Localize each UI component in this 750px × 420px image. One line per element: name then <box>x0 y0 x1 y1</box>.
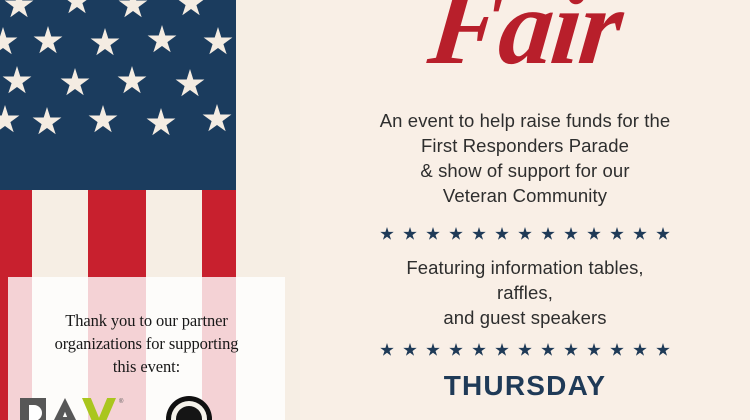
flag-canton-edge-3 <box>227 82 234 126</box>
flag-canton-edge-4 <box>229 126 234 172</box>
divider-star <box>633 343 647 357</box>
features-line-2: raffles, <box>300 280 750 305</box>
flyer-text-content: Fair An event to help raise funds for th… <box>300 0 750 420</box>
dav-letter-v <box>82 398 116 420</box>
divider-star <box>564 343 578 357</box>
divider-star <box>403 227 417 241</box>
divider-star <box>518 343 532 357</box>
divider-star <box>610 227 624 241</box>
divider-star <box>403 343 417 357</box>
flag-canton-torn-edge <box>0 150 236 210</box>
swampscott-seal-logo: SWAMPSCOTT <box>166 396 212 420</box>
divider-star <box>472 227 486 241</box>
divider-star <box>564 227 578 241</box>
divider-star <box>472 343 486 357</box>
star-divider-top <box>300 225 750 243</box>
intro-line-3: & show of support for our <box>300 158 750 183</box>
divider-star <box>633 227 647 241</box>
divider-star <box>610 343 624 357</box>
features-line-1: Featuring information tables, <box>300 255 750 280</box>
seal-ring-label: SWAMPSCOTT <box>166 396 212 420</box>
page-title: Fair <box>294 0 750 82</box>
partner-line-3: this event: <box>8 355 285 378</box>
divider-star <box>656 227 670 241</box>
divider-star <box>449 343 463 357</box>
partner-logos: ® SWAMPSCOTT <box>8 390 285 420</box>
divider-star <box>656 343 670 357</box>
partner-line-2: organizations for supporting <box>8 332 285 355</box>
divider-star <box>380 227 394 241</box>
partner-line-1: Thank you to our partner <box>8 309 285 332</box>
features-line-3: and guest speakers <box>300 305 750 330</box>
event-flyer: Thank you to our partner organizations f… <box>0 0 750 420</box>
partner-organizations-panel: Thank you to our partner organizations f… <box>8 277 285 420</box>
intro-line-1: An event to help raise funds for the <box>300 108 750 133</box>
divider-star <box>495 227 509 241</box>
divider-star <box>541 343 555 357</box>
divider-star <box>426 343 440 357</box>
flag-canton-edge-2 <box>230 34 235 82</box>
star-divider-bottom <box>300 341 750 359</box>
divider-star <box>518 227 532 241</box>
intro-paragraph: An event to help raise funds for the Fir… <box>300 108 750 208</box>
divider-star <box>380 343 394 357</box>
flag-canton-edge-1 <box>228 0 236 34</box>
divider-star <box>449 227 463 241</box>
divider-star <box>587 343 601 357</box>
divider-star <box>587 227 601 241</box>
intro-line-4: Veteran Community <box>300 183 750 208</box>
dav-letter-d <box>20 398 46 420</box>
dav-registered-mark: ® <box>119 399 123 405</box>
event-day-label: THURSDAY <box>300 370 750 402</box>
intro-line-2: First Responders Parade <box>300 133 750 158</box>
divider-star <box>495 343 509 357</box>
features-paragraph: Featuring information tables, raffles, a… <box>300 255 750 330</box>
divider-star <box>541 227 555 241</box>
divider-star <box>426 227 440 241</box>
partner-thank-you-text: Thank you to our partner organizations f… <box>8 309 285 378</box>
dav-logo: ® <box>20 398 132 420</box>
